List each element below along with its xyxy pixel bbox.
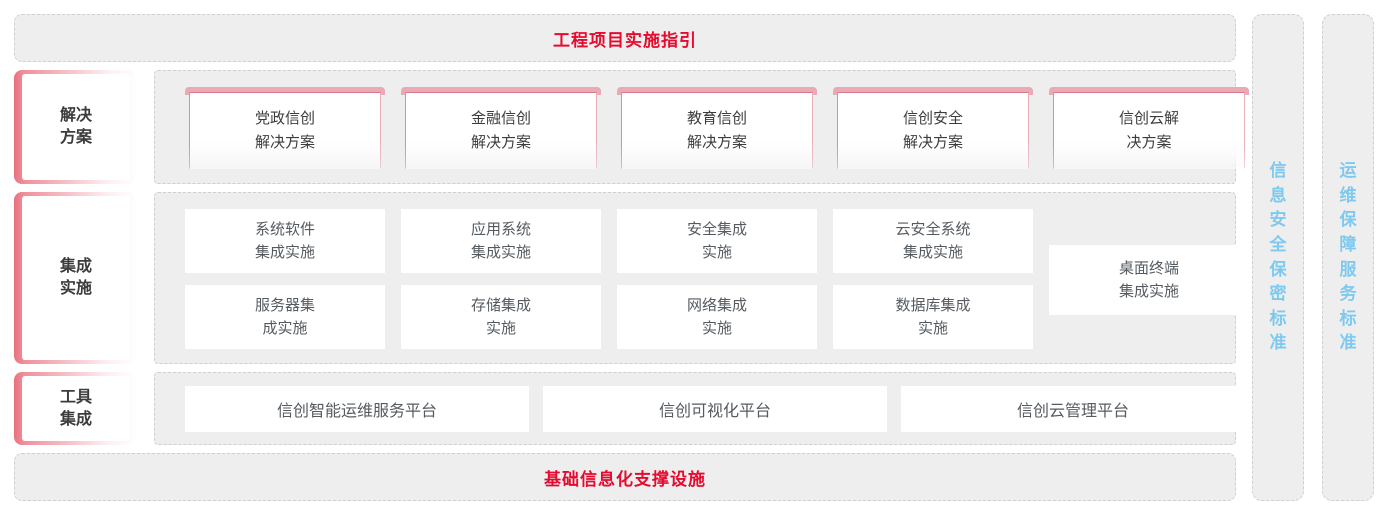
row-label-tools-inner: 工具 集成 (22, 376, 130, 441)
solution-card-label: 金融信创 解决方案 (471, 107, 531, 154)
row-label-solutions-text: 解决 方案 (60, 105, 92, 148)
panel-tools: 信创智能运维服务平台 信创可视化平台 信创云管理平台 (154, 372, 1236, 445)
tool-card-label: 信创可视化平台 (659, 397, 771, 421)
panel-integration: 系统软件 集成实施 应用系统 集成实施 安全集成 实施 云安全系统 集成实施 服… (154, 192, 1236, 364)
tool-card-1[interactable]: 信创可视化平台 (543, 386, 887, 432)
solution-card-label: 教育信创 解决方案 (687, 107, 747, 154)
row-label-solutions-inner: 解决 方案 (22, 74, 130, 180)
integration-card-label: 安全集成 实施 (687, 218, 747, 265)
row-label-tools: 工具 集成 (14, 372, 138, 445)
integration-card-label: 云安全系统 集成实施 (895, 218, 970, 265)
solution-card-body: 金融信创 解决方案 (405, 92, 597, 169)
row-solutions: 解决 方案 党政信创 解决方案 金融信创 解决方案 教育信创 解决方案 (14, 70, 1236, 184)
row-label-solutions: 解决 方案 (14, 70, 138, 184)
solution-card-label: 信创云解 决方案 (1119, 107, 1179, 154)
diagram-canvas: 工程项目实施指引 解决 方案 党政信创 解决方案 金融信创 解决方案 (0, 0, 1390, 515)
row-tools: 工具 集成 信创智能运维服务平台 信创可视化平台 信创云管理平台 (14, 372, 1236, 445)
integration-card-label: 存储集成 实施 (471, 294, 531, 341)
solution-card-body: 信创云解 决方案 (1053, 92, 1245, 169)
integration-card-bottom-0[interactable]: 服务器集 成实施 (185, 285, 385, 349)
page-title: 工程项目实施指引 (553, 26, 697, 51)
sidebar-security-standard[interactable]: 信息安全保密标准 (1252, 14, 1304, 501)
row-integration: 集成 实施 系统软件 集成实施 应用系统 集成实施 安全集成 实施 云安全系统 … (14, 192, 1236, 364)
tool-card-label: 信创智能运维服务平台 (277, 397, 437, 421)
solution-card-4[interactable]: 信创云解 决方案 (1049, 87, 1249, 169)
header-banner: 工程项目实施指引 (14, 14, 1236, 62)
footer-title: 基础信息化支撑设施 (544, 465, 706, 490)
sidebar-ops-standard-label: 运维保障服务标准 (1337, 159, 1359, 356)
solution-card-2[interactable]: 教育信创 解决方案 (617, 87, 817, 169)
integration-card-label: 服务器集 成实施 (255, 294, 315, 341)
integration-card-label: 桌面终端 集成实施 (1119, 257, 1179, 304)
integration-card-bottom-1[interactable]: 存储集成 实施 (401, 285, 601, 349)
tool-card-0[interactable]: 信创智能运维服务平台 (185, 386, 529, 432)
solution-card-1[interactable]: 金融信创 解决方案 (401, 87, 601, 169)
tool-card-2[interactable]: 信创云管理平台 (901, 386, 1245, 432)
row-label-integration-text: 集成 实施 (60, 256, 92, 299)
integration-card-top-1[interactable]: 应用系统 集成实施 (401, 209, 601, 273)
integration-card-bottom-3[interactable]: 数据库集成 实施 (833, 285, 1033, 349)
tool-card-label: 信创云管理平台 (1017, 397, 1129, 421)
integration-card-label: 网络集成 实施 (687, 294, 747, 341)
row-label-integration-inner: 集成 实施 (22, 196, 130, 360)
integration-card-bottom-2[interactable]: 网络集成 实施 (617, 285, 817, 349)
integration-card-label: 系统软件 集成实施 (255, 218, 315, 265)
solution-card-body: 信创安全 解决方案 (837, 92, 1029, 169)
solution-card-body: 教育信创 解决方案 (621, 92, 813, 169)
solution-card-label: 信创安全 解决方案 (903, 107, 963, 154)
solution-card-body: 党政信创 解决方案 (189, 92, 381, 169)
sidebar-security-standard-label: 信息安全保密标准 (1267, 159, 1289, 356)
integration-card-top-2[interactable]: 安全集成 实施 (617, 209, 817, 273)
integration-card-top-0[interactable]: 系统软件 集成实施 (185, 209, 385, 273)
integration-card-desktop[interactable]: 桌面终端 集成实施 (1049, 245, 1249, 315)
panel-solutions: 党政信创 解决方案 金融信创 解决方案 教育信创 解决方案 信创安全 解决方案 (154, 70, 1236, 184)
solution-card-3[interactable]: 信创安全 解决方案 (833, 87, 1033, 169)
row-label-integration: 集成 实施 (14, 192, 138, 364)
integration-card-top-3[interactable]: 云安全系统 集成实施 (833, 209, 1033, 273)
sidebar-ops-standard[interactable]: 运维保障服务标准 (1322, 14, 1374, 501)
solution-card-label: 党政信创 解决方案 (255, 107, 315, 154)
row-label-tools-text: 工具 集成 (60, 387, 92, 430)
integration-card-label: 数据库集成 实施 (895, 294, 970, 341)
integration-card-label: 应用系统 集成实施 (471, 218, 531, 265)
solution-card-0[interactable]: 党政信创 解决方案 (185, 87, 385, 169)
footer-banner: 基础信息化支撑设施 (14, 453, 1236, 501)
